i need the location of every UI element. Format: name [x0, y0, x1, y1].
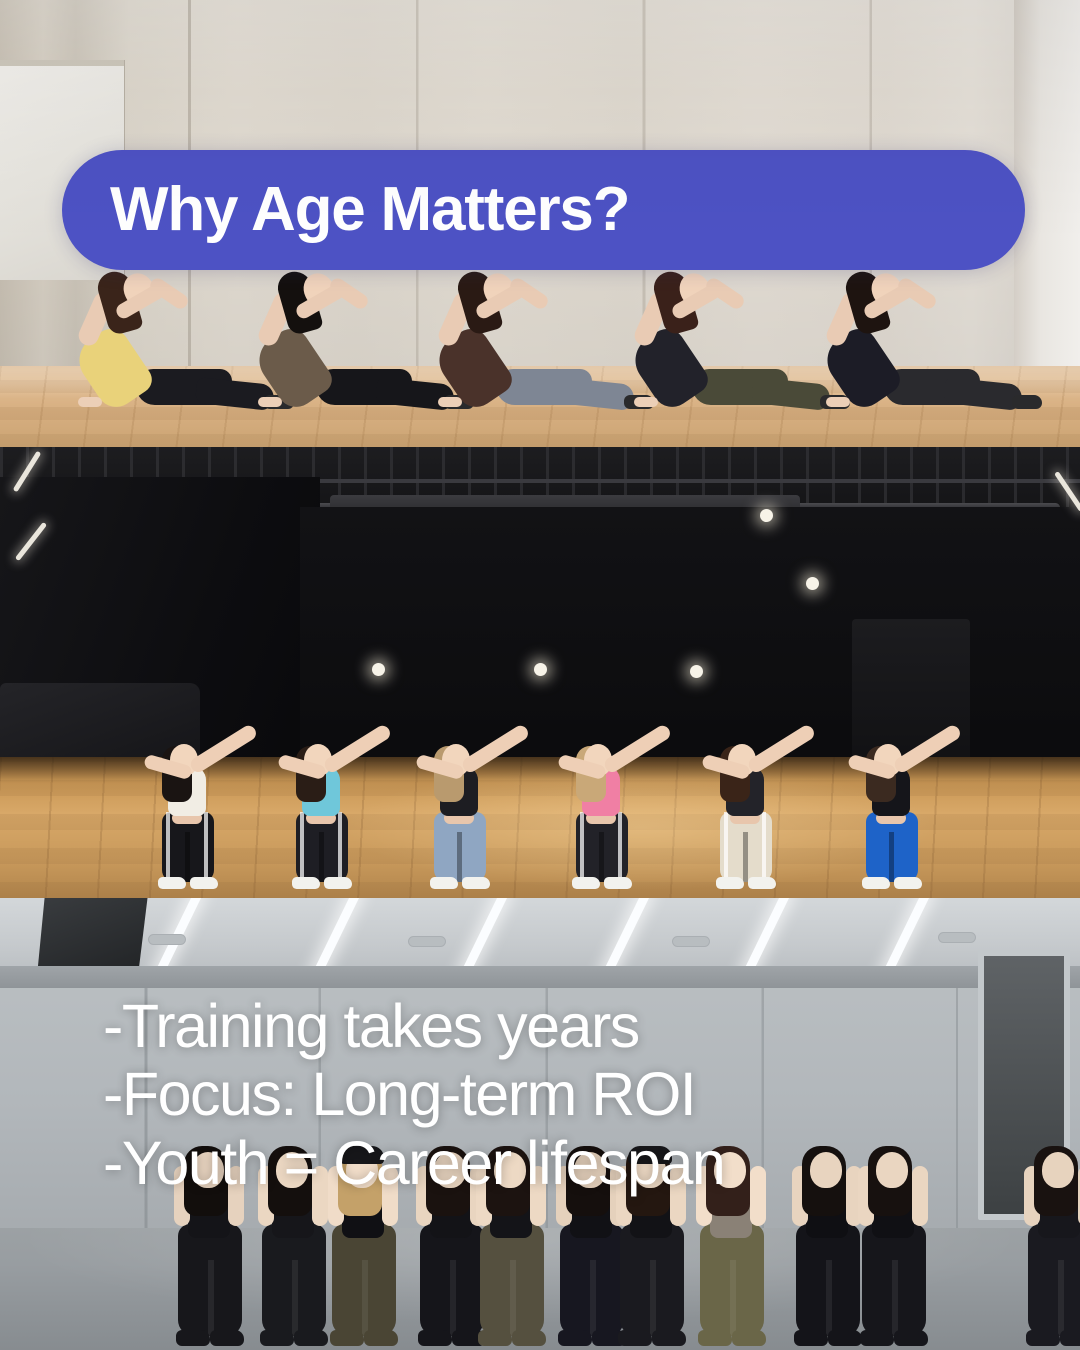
- dancer-pant-stripe: [338, 812, 342, 880]
- dancer-pant-stripe: [300, 812, 304, 880]
- dancer-leg-gap: [826, 1260, 832, 1336]
- dancer-shoe: [418, 1330, 452, 1346]
- dancer-shoe: [894, 877, 922, 889]
- dancer-shoe: [478, 1330, 512, 1346]
- title-banner: Why Age Matters?: [62, 150, 1025, 270]
- dancer-arm: [750, 1166, 766, 1226]
- ceiling-vent-icon: [408, 936, 446, 947]
- dancer-head: [876, 1152, 908, 1188]
- page-title: Why Age Matters?: [110, 179, 629, 241]
- dancer-shoe: [604, 877, 632, 889]
- dancer-shoe: [794, 1330, 828, 1346]
- photo-panel-dark-studio: [0, 447, 1080, 898]
- panel2-spotlight: [760, 509, 773, 522]
- dancer-shoe: [430, 877, 458, 889]
- dancer-shoe: [572, 877, 600, 889]
- dancer-hand: [634, 397, 658, 407]
- dancer-shoe: [860, 1330, 894, 1346]
- dancer-leg-gap: [1058, 1260, 1064, 1336]
- dancer-shoe: [894, 1330, 928, 1346]
- dancer-shoe: [462, 877, 490, 889]
- bullet-line: -Training takes years: [103, 992, 724, 1060]
- dancer-head: [810, 1152, 842, 1188]
- dancer-pant-stripe: [580, 812, 584, 880]
- dancer-leg-gap: [510, 1260, 516, 1336]
- dancer-arm: [912, 1166, 928, 1226]
- dancer-leg-gap: [319, 832, 324, 882]
- dancer-pant-stripe: [204, 812, 208, 880]
- dancer-shoe: [260, 1330, 294, 1346]
- dancer-hand: [826, 397, 850, 407]
- dancer-pants: [1028, 1224, 1080, 1336]
- dancer-leg-gap: [362, 1260, 368, 1336]
- panel2-spotlight: [690, 665, 703, 678]
- dancer-hand: [258, 397, 282, 407]
- dancer-shoe: [190, 877, 218, 889]
- dancer-pant-stripe: [762, 812, 766, 880]
- dancer-leg-gap: [292, 1260, 298, 1336]
- dancer-shoe: [558, 1330, 592, 1346]
- dancer-shoe: [294, 1330, 328, 1346]
- dancer-leg-gap: [599, 832, 604, 882]
- dancer-shoe: [828, 1330, 862, 1346]
- bullet-line: -Focus: Long-term ROI: [103, 1060, 724, 1128]
- dancer-shoe: [324, 877, 352, 889]
- ceiling-vent-icon: [938, 932, 976, 943]
- dancer-leg-gap: [590, 1260, 596, 1336]
- dancer-shoe: [210, 1330, 244, 1346]
- ceiling-vent-icon: [672, 936, 710, 947]
- dancer-hand: [438, 397, 462, 407]
- dancer-shoe: [158, 877, 186, 889]
- carousel-slide: Why Age Matters? -Training takes years -…: [0, 0, 1080, 1350]
- dancer-pant-stripe: [166, 812, 170, 880]
- dancer-leg-gap: [650, 1260, 656, 1336]
- dancer-shoe: [292, 877, 320, 889]
- bullet-list: -Training takes years -Focus: Long-term …: [103, 992, 724, 1197]
- dancer-shoe: [176, 1330, 210, 1346]
- dancer-shoe: [1026, 1330, 1060, 1346]
- dancer-hand: [78, 397, 102, 407]
- dancer-pant-stripe: [724, 812, 728, 880]
- dancer-shoe: [748, 877, 776, 889]
- bullet-line: -Youth = Career lifespan: [103, 1129, 724, 1197]
- panel1-window-frame: [0, 60, 124, 66]
- dancer-shoe: [698, 1330, 732, 1346]
- dancer-shoe: [652, 1330, 686, 1346]
- dancer-leg-gap: [450, 1260, 456, 1336]
- dancer-head: [1042, 1152, 1074, 1188]
- dancer-leg-gap: [743, 832, 748, 882]
- dancer-leg-gap: [208, 1260, 214, 1336]
- panel2-spotlight: [806, 577, 819, 590]
- dancer-shoe: [364, 1330, 398, 1346]
- dancer-leg-gap: [185, 832, 190, 882]
- dancer-shoe: [716, 877, 744, 889]
- panel2-spotlight: [534, 663, 547, 676]
- dancer-leg-gap: [457, 832, 462, 882]
- dancer-shoe: [1060, 1330, 1080, 1346]
- panel1-wall-right: [1014, 0, 1080, 372]
- dancer-shoe: [512, 1330, 546, 1346]
- dancer-leg-gap: [889, 832, 894, 882]
- dancer-shoe: [732, 1330, 766, 1346]
- dancer-leg-gap: [730, 1260, 736, 1336]
- dancer-shoe: [862, 877, 890, 889]
- panel2-spotlight: [372, 663, 385, 676]
- dancer-shoe: [330, 1330, 364, 1346]
- ceiling-vent-icon: [148, 934, 186, 945]
- dancer-pant-stripe: [618, 812, 622, 880]
- dancer-shoe: [1012, 395, 1042, 409]
- panel3-wall-band: [0, 966, 1080, 988]
- dancer-shoe: [618, 1330, 652, 1346]
- dancer-leg-gap: [892, 1260, 898, 1336]
